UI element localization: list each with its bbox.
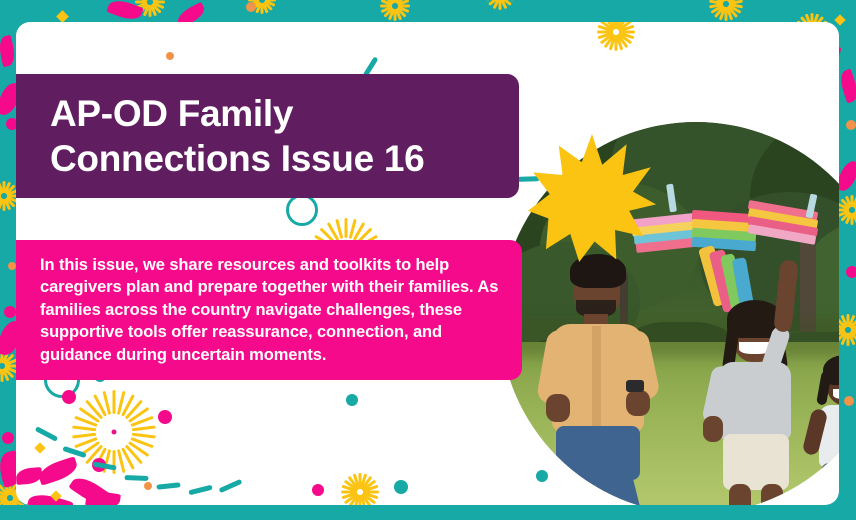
- confetti-dot: [246, 2, 256, 12]
- confetti-dot: [4, 306, 16, 318]
- content-card: AP-OD Family Connections Issue 16 In thi…: [16, 22, 839, 505]
- confetti-petal: [36, 456, 80, 485]
- confetti-dot: [166, 52, 174, 60]
- confetti-dash: [188, 485, 212, 496]
- confetti-dot: [62, 390, 76, 404]
- confetti-dash: [219, 479, 243, 493]
- person-younger-girl: [805, 347, 839, 505]
- person-father: [540, 252, 680, 505]
- confetti-dot: [158, 410, 172, 424]
- confetti-dot: [846, 120, 856, 130]
- confetti-dot: [92, 458, 106, 472]
- confetti-dash: [92, 461, 117, 470]
- confetti-starburst: [326, 458, 394, 505]
- confetti-petal: [16, 467, 43, 485]
- intro-banner: In this issue, we share resources and to…: [16, 240, 522, 380]
- intro-paragraph: In this issue, we share resources and to…: [16, 254, 522, 367]
- confetti-dot: [846, 266, 856, 278]
- title-banner: AP-OD Family Connections Issue 16: [16, 74, 519, 198]
- confetti-dot: [144, 482, 152, 490]
- confetti-dash: [62, 446, 86, 458]
- confetti-dot: [346, 394, 358, 406]
- confetti-dot: [2, 432, 14, 444]
- confetti-dot: [844, 396, 854, 406]
- confetti-dash: [156, 482, 180, 489]
- confetti-diamond: [56, 10, 69, 23]
- confetti-dot: [394, 480, 408, 494]
- confetti-petal: [85, 490, 121, 505]
- bottom-teal-bar: [0, 505, 856, 520]
- confetti-starburst: [238, 0, 286, 24]
- confetti-starburst: [582, 22, 650, 66]
- page-title: AP-OD Family Connections Issue 16: [16, 91, 519, 181]
- yellow-starburst-icon: [528, 134, 656, 262]
- confetti-dash: [124, 475, 148, 481]
- confetti-diamond: [50, 490, 61, 501]
- confetti-petal: [26, 490, 73, 505]
- confetti-petal: [837, 69, 856, 104]
- confetti-petal: [0, 35, 17, 67]
- confetti-petal: [68, 472, 111, 505]
- confetti-diamond: [34, 442, 45, 453]
- newsletter-banner: AP-OD Family Connections Issue 16 In thi…: [0, 0, 856, 520]
- confetti-starburst: [476, 0, 524, 20]
- confetti-dot: [312, 484, 324, 496]
- confetti-starburst: [62, 380, 166, 484]
- confetti-dash: [35, 426, 59, 442]
- confetti-dot: [8, 262, 16, 270]
